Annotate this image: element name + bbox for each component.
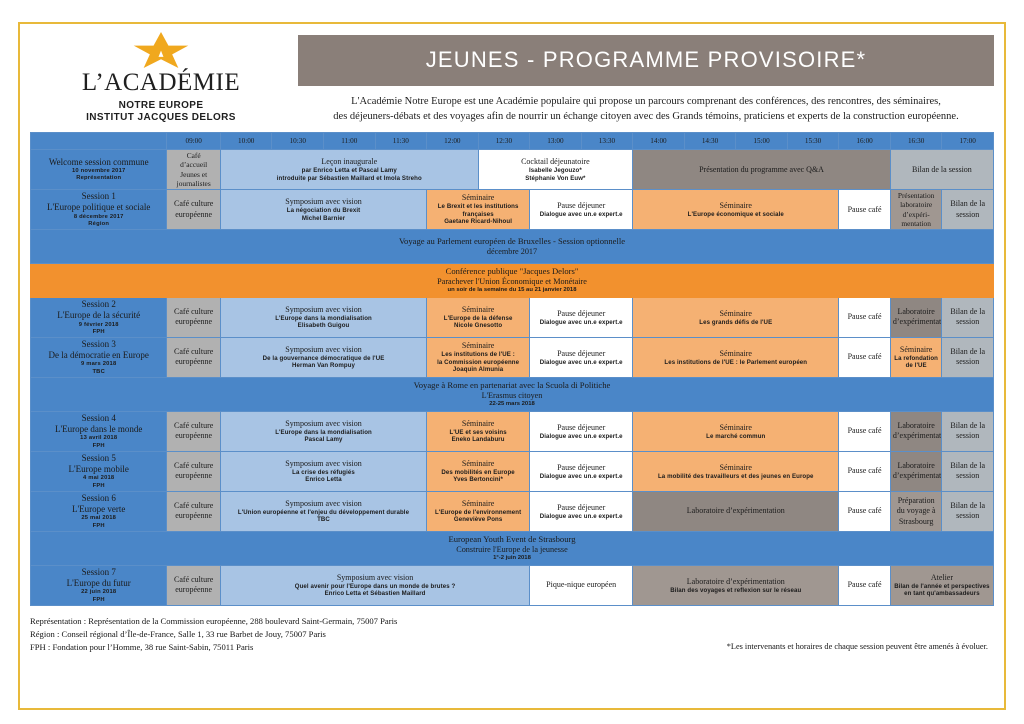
activity-title: Pause déjeuner [532, 201, 630, 211]
band-line-2: décembre 2017 [33, 247, 991, 257]
band-voyage-rome[interactable]: Voyage à Rome en partenariat avec la Scu… [31, 377, 994, 411]
activity-cell[interactable]: SéminaireLes institutions de l'UE : le P… [633, 337, 839, 377]
session-label-cell[interactable]: Session 4L'Europe dans le monde13 avril … [31, 411, 167, 451]
activity-line: Bilan de la [944, 501, 991, 511]
time-header-1000: 10:00 [220, 133, 272, 150]
band-voyage-bruxelles[interactable]: Voyage au Parlement européen de Bruxelle… [31, 230, 994, 264]
time-header-1230: 12:30 [478, 133, 530, 150]
schedule-row: Session 5L'Europe mobile4 mai 2018FPHCaf… [31, 451, 994, 491]
activity-cell[interactable]: SéminaireLe Brexit et les institutionsfr… [427, 190, 530, 230]
activity-line: session [944, 511, 991, 521]
activity-line: Laboratoire [893, 307, 940, 317]
activity-title: Présentation du programme avec Q&A [635, 165, 888, 175]
activity-cell[interactable]: Pause café [839, 411, 891, 451]
session-title-line2: De la démocratie en Europe [33, 350, 164, 361]
activity-cell[interactable]: Symposium avec visionLa crise des réfugi… [220, 451, 426, 491]
activity-title: Pause café [841, 506, 888, 516]
activity-cell[interactable]: Laboratoire d’expérimentation [633, 491, 839, 531]
time-header-1430: 14:30 [684, 133, 736, 150]
activity-cell[interactable]: Présentationlaboratoired’expéri-mentatio… [890, 190, 942, 230]
activity-detail: Le marché commun [635, 433, 836, 441]
band-european-youth-event-cell[interactable]: European Youth Event de StrasbourgConstr… [31, 531, 994, 565]
activity-title: Pause déjeuner [532, 463, 630, 473]
activity-cell[interactable]: Pause café [839, 491, 891, 531]
session-venue: Représentation [33, 175, 164, 182]
activity-title: Symposium avec vision [223, 197, 424, 207]
activity-detail: Enrico Letta et Sébastien Maillard [223, 590, 527, 598]
activity-line: Café culture [169, 307, 218, 317]
session-venue: FPH [33, 443, 164, 450]
activity-cell[interactable]: Pause café [839, 337, 891, 377]
session-date: 8 décembre 2017 [33, 214, 164, 221]
time-header-1700: 17:00 [942, 133, 994, 150]
activity-cell[interactable]: SéminaireLa mobilité des travailleurs et… [633, 451, 839, 491]
activity-cell[interactable]: Café cultureeuropéenne [167, 298, 221, 338]
activity-cell[interactable]: Symposium avec visionL'Europe dans la mo… [220, 298, 426, 338]
session-date: 10 novembre 2017 [33, 168, 164, 175]
activity-detail: L'Union européenne et l'enjeu du dévelop… [223, 509, 424, 517]
activity-cell[interactable]: Bilan de lasession [942, 491, 994, 531]
time-header-1530: 15:30 [787, 133, 839, 150]
activity-cell[interactable]: Bilan de lasession [942, 451, 994, 491]
activity-detail: Les grands défis de l'UE [635, 319, 836, 327]
time-header-1600: 16:00 [839, 133, 891, 150]
session-venue: FPH [33, 329, 164, 336]
activity-detail: Gaetane Ricard-Nihoul [429, 218, 527, 226]
session-label-cell[interactable]: Session 5L'Europe mobile4 mai 2018FPH [31, 451, 167, 491]
intro-line-1: L'Académie Notre Europe est une Académie… [304, 94, 988, 109]
session-title-line1: Session 5 [33, 453, 164, 464]
schedule-row: Session 6L'Europe verte25 mai 2018FPHCaf… [31, 491, 994, 531]
activity-cell[interactable]: Bilan de lasession [942, 411, 994, 451]
activity-line: Bilan de la [944, 199, 991, 209]
poster-header: L’ACADÉMIE NOTRE EUROPE INSTITUT JACQUES… [30, 30, 994, 128]
activity-line: laboratoire [893, 200, 940, 209]
activity-cell[interactable]: Pique-nique européen [530, 565, 633, 605]
poster-footer: Représentation : Représentation de la Co… [30, 615, 994, 655]
activity-line: d’expérimentation [893, 431, 940, 441]
activity-title: Séminaire [429, 419, 527, 429]
star-icon [30, 32, 292, 68]
activity-title: Séminaire [429, 305, 527, 315]
activity-detail: L'Europe dans la mondialisation [223, 429, 424, 437]
activity-title: Symposium avec vision [223, 459, 424, 469]
activity-title: Pause déjeuner [532, 423, 630, 433]
activity-title: Séminaire [429, 499, 527, 509]
activity-cell[interactable]: Pause déjeunerDialogue avec un.e expert.… [530, 451, 633, 491]
activity-title: Leçon inaugurale [223, 157, 476, 167]
session-label-cell[interactable]: Welcome session commune10 novembre 2017R… [31, 150, 167, 190]
activity-title: Séminaire [635, 423, 836, 433]
activity-detail: De la gouvernance démocratique de l'UE [223, 355, 424, 363]
band-line-1: Conférence publique "Jacques Delors" [33, 266, 991, 277]
activity-cell[interactable]: Pause déjeunerDialogue avec un.e expert.… [530, 337, 633, 377]
activity-detail: françaises [429, 211, 527, 219]
activity-cell[interactable]: Café cultureeuropéenne [167, 565, 221, 605]
activity-detail: Geneviève Pons [429, 516, 527, 524]
activity-title: Séminaire [429, 341, 527, 351]
activity-detail: Dialogue avec un.e expert.e [532, 211, 630, 219]
activity-detail: introduite par Sébastien Maillard et Imo… [223, 175, 476, 183]
activity-title: Pause café [841, 352, 888, 362]
activity-detail: La refondation de l'UE [893, 355, 940, 370]
activity-title: Laboratoire d’expérimentation [635, 577, 836, 587]
activity-line: journalistes [169, 179, 218, 188]
activity-detail: Stéphanie Von Euw* [481, 175, 631, 183]
schedule-row: Welcome session commune10 novembre 2017R… [31, 150, 994, 190]
activity-cell[interactable]: Pause déjeunerDialogue avec un.e expert.… [530, 411, 633, 451]
activity-detail: Les institutions de l'UE : le Parlement … [635, 359, 836, 367]
band-line-1: Voyage à Rome en partenariat avec la Scu… [33, 380, 991, 391]
activity-line: d’expérimentation [893, 317, 940, 327]
activity-cell[interactable]: SéminaireL'Europe économique et sociale [633, 190, 839, 230]
activity-line: Café culture [169, 347, 218, 357]
band-line-1: European Youth Event de Strasbourg [33, 534, 991, 545]
activity-title: Symposium avec vision [223, 573, 527, 583]
schedule-row: Session 1L'Europe politique et sociale8 … [31, 190, 994, 230]
intro-text: L'Académie Notre Europe est une Académie… [298, 86, 994, 124]
activity-cell[interactable]: SéminaireL'Europe de l'environnementGene… [427, 491, 530, 531]
activity-detail: La crise des réfugiés [223, 469, 424, 477]
activity-cell[interactable]: AtelierBilan de l'année et perspectivese… [890, 565, 993, 605]
activity-cell[interactable]: Café cultureeuropéenne [167, 190, 221, 230]
activity-title: Séminaire [635, 201, 836, 211]
activity-title: Symposium avec vision [223, 499, 424, 509]
programme-poster: L’ACADÉMIE NOTRE EUROPE INSTITUT JACQUES… [0, 0, 1024, 724]
activity-cell[interactable]: Cocktail déjeunatoireIsabelle Jegouzo*St… [478, 150, 633, 190]
activity-detail: Elisabeth Guigou [223, 322, 424, 330]
activity-line: session [944, 317, 991, 327]
session-date: 25 mai 2018 [33, 515, 164, 522]
grid-corner-cell [31, 133, 167, 150]
disclaimer-note: *Les intervenants et horaires de chaque … [727, 641, 994, 655]
activity-cell[interactable]: Laboratoire d’expérimentationBilan des v… [633, 565, 839, 605]
session-date: 9 mars 2018 [33, 361, 164, 368]
band-line-1: Voyage au Parlement européen de Bruxelle… [33, 236, 991, 247]
time-header-1300: 13:00 [530, 133, 582, 150]
activity-cell[interactable]: SéminaireLes grands défis de l'UE [633, 298, 839, 338]
activity-cell[interactable]: Leçon inauguralepar Enrico Letta et Pasc… [220, 150, 478, 190]
activity-title: Symposium avec vision [223, 419, 424, 429]
activity-cell[interactable]: SéminaireLa refondation de l'UE [890, 337, 942, 377]
session-venue: Région [33, 221, 164, 228]
time-header-1130: 11:30 [375, 133, 427, 150]
activity-detail: Les institutions de l'UE : [429, 351, 527, 359]
activity-title: Symposium avec vision [223, 305, 424, 315]
activity-detail: L'Europe de l'environnement [429, 509, 527, 517]
activity-cell[interactable]: Caféd’accueilJeunes etjournalistes [167, 150, 221, 190]
activity-cell[interactable]: Café cultureeuropéenne [167, 337, 221, 377]
time-header-1330: 13:30 [581, 133, 633, 150]
activity-line: mentation [893, 219, 940, 228]
activity-cell[interactable]: SéminaireL'Europe de la défenseNicole Gn… [427, 298, 530, 338]
band-line-3: 1°-2 juin 2018 [33, 555, 991, 562]
brand-name: L’ACADÉMIE [30, 69, 292, 97]
activity-title: Symposium avec vision [223, 345, 424, 355]
session-title-line1: Session 6 [33, 493, 164, 504]
activity-line: Café culture [169, 199, 218, 209]
activity-title: Bilan de la session [893, 165, 991, 175]
activity-detail: Michel Barnier [223, 215, 424, 223]
time-header-row: 09:0010:0010:3011:0011:3012:0012:3013:00… [31, 133, 994, 150]
activity-detail: Dialogue avec un.e expert.e [532, 473, 630, 481]
activity-detail: Enrico Letta [223, 476, 424, 484]
activity-detail: Herman Van Rompuy [223, 362, 424, 370]
activity-title: Pause déjeuner [532, 309, 630, 319]
activity-cell[interactable]: Préparation du voyage àStrasbourg [890, 491, 942, 531]
activity-line: d’accueil [169, 160, 218, 169]
activity-detail: Isabelle Jegouzo* [481, 167, 631, 175]
activity-title: Laboratoire d’expérimentation [635, 506, 836, 516]
time-header-1630: 16:30 [890, 133, 942, 150]
band-line-2: Construire l'Europe de la jeunesse [33, 545, 991, 555]
band-line-3: un soir de la semaine du 15 au 21 janvie… [33, 287, 991, 294]
activity-cell[interactable]: Laboratoired’expérimentation [890, 451, 942, 491]
activity-title: Pause café [841, 426, 888, 436]
time-header-0900: 09:00 [167, 133, 221, 150]
activity-cell[interactable]: Bilan de lasession [942, 190, 994, 230]
session-label-cell[interactable]: Session 6L'Europe verte25 mai 2018FPH [31, 491, 167, 531]
activity-line: Laboratoire [893, 461, 940, 471]
time-header-1100: 11:00 [324, 133, 376, 150]
activity-detail: Bilan des voyages et reflexion sur le ré… [635, 587, 836, 595]
activity-cell[interactable]: Laboratoired’expérimentation [890, 411, 942, 451]
session-title-line1: Welcome session commune [33, 157, 164, 168]
activity-cell[interactable]: SéminaireLes institutions de l'UE :la Co… [427, 337, 530, 377]
schedule-row: Session 2L'Europe de la sécurité9 févrie… [31, 298, 994, 338]
activity-cell[interactable]: Pause déjeunerDialogue avec un.e expert.… [530, 298, 633, 338]
activity-title: Séminaire [635, 349, 836, 359]
activity-line: européenne [169, 585, 218, 595]
activity-line: européenne [169, 357, 218, 367]
session-title-line2: L'Europe verte [33, 504, 164, 515]
session-label-cell[interactable]: Session 2L'Europe de la sécurité9 févrie… [31, 298, 167, 338]
session-date: 4 mai 2018 [33, 475, 164, 482]
activity-detail: La négociation du Brexit [223, 207, 424, 215]
session-date: 9 février 2018 [33, 322, 164, 329]
activity-title: Pause café [841, 580, 888, 590]
band-line-2: Parachever l'Union Économique et Monétai… [33, 277, 991, 287]
time-header-1500: 15:00 [736, 133, 788, 150]
band-conference-jacques-delors-cell[interactable]: Conférence publique "Jacques Delors"Para… [31, 264, 994, 298]
band-voyage-rome-cell[interactable]: Voyage à Rome en partenariat avec la Scu… [31, 377, 994, 411]
activity-cell[interactable]: Symposium avec visionLa négociation du B… [220, 190, 426, 230]
activity-line: européenne [169, 210, 218, 220]
band-line-3: 22-25 mars 2018 [33, 401, 991, 408]
activity-line: Strasbourg [893, 517, 940, 527]
session-title-line2: L'Europe de la sécurité [33, 310, 164, 321]
schedule-row: Session 3De la démocratie en Europe9 mar… [31, 337, 994, 377]
activity-title: Séminaire [429, 459, 527, 469]
activity-title: Séminaire [893, 345, 940, 355]
session-date: 13 avril 2018 [33, 435, 164, 442]
activity-cell[interactable]: Pause déjeunerDialogue avec un.e expert.… [530, 190, 633, 230]
activity-detail: Pascal Lamy [223, 436, 424, 444]
activity-title: Pique-nique européen [532, 580, 630, 590]
session-title-line2: L'Europe politique et sociale [33, 202, 164, 213]
activity-detail: La mobilité des travailleurs et des jeun… [635, 473, 836, 481]
activity-cell[interactable]: Symposium avec visionDe la gouvernance d… [220, 337, 426, 377]
activity-title: Pause café [841, 466, 888, 476]
activity-detail: Eneko Landaburu [429, 436, 527, 444]
activity-cell[interactable]: Pause café [839, 451, 891, 491]
activity-line: européenne [169, 317, 218, 327]
session-title-line1: Session 3 [33, 339, 164, 350]
activity-detail: Bilan de l'année et perspectives [893, 583, 991, 591]
session-venue: FPH [33, 597, 164, 604]
session-venue: FPH [33, 523, 164, 530]
activity-line: Bilan de la [944, 347, 991, 357]
session-title-line1: Session 4 [33, 413, 164, 424]
activity-detail: Le Brexit et les institutions [429, 203, 527, 211]
activity-detail: TBC [223, 516, 424, 524]
time-header-1030: 10:30 [272, 133, 324, 150]
activity-cell[interactable]: Café cultureeuropéenne [167, 491, 221, 531]
session-label-cell[interactable]: Session 7L'Europe du futur22 juin 2018FP… [31, 565, 167, 605]
time-header-1200: 12:00 [427, 133, 479, 150]
activity-detail: L'Europe économique et sociale [635, 211, 836, 219]
activity-title: Pause café [841, 205, 888, 215]
activity-line: européenne [169, 431, 218, 441]
activity-cell[interactable]: Café cultureeuropéenne [167, 411, 221, 451]
venue-fph: FPH : Fondation pour l’Homme, 38 rue Sai… [30, 641, 397, 654]
session-label-cell[interactable]: Session 3De la démocratie en Europe9 mar… [31, 337, 167, 377]
activity-line: Café culture [169, 421, 218, 431]
session-label-cell[interactable]: Session 1L'Europe politique et sociale8 … [31, 190, 167, 230]
activity-detail: L'UE et ses voisins [429, 429, 527, 437]
activity-title: Séminaire [635, 309, 836, 319]
band-line-2: L'Erasmus citoyen [33, 391, 991, 401]
session-title-line1: Session 1 [33, 191, 164, 202]
intro-line-2: des déjeuners-débats et des voyages afin… [304, 109, 988, 124]
activity-cell[interactable]: Symposium avec visionL'Union européenne … [220, 491, 426, 531]
activity-title: Séminaire [635, 463, 836, 473]
activity-detail: Dialogue avec un.e expert.e [532, 359, 630, 367]
activity-cell[interactable]: Bilan de la session [890, 150, 993, 190]
activity-cell[interactable]: Laboratoired’expérimentation [890, 298, 942, 338]
activity-line: Café [169, 151, 218, 160]
activity-line: d’expérimentation [893, 471, 940, 481]
brand-logo: L’ACADÉMIE NOTRE EUROPE INSTITUT JACQUES… [30, 30, 292, 123]
band-european-youth-event[interactable]: European Youth Event de StrasbourgConstr… [31, 531, 994, 565]
activity-line: Bilan de la [944, 461, 991, 471]
schedule-row: Session 7L'Europe du futur22 juin 2018FP… [31, 565, 994, 605]
session-date: 22 juin 2018 [33, 589, 164, 596]
activity-detail: en tant qu'ambassadeurs [893, 590, 991, 598]
activity-cell[interactable]: Bilan de lasession [942, 298, 994, 338]
session-title-line2: L'Europe du futur [33, 578, 164, 589]
activity-line: Café culture [169, 501, 218, 511]
brand-subtitle-2: INSTITUT JACQUES DELORS [30, 112, 292, 123]
activity-line: Bilan de la [944, 421, 991, 431]
activity-line: Présentation [893, 191, 940, 200]
activity-line: Laboratoire [893, 421, 940, 431]
band-voyage-bruxelles-cell[interactable]: Voyage au Parlement européen de Bruxelle… [31, 230, 994, 264]
activity-cell[interactable]: Symposium avec visionQuel avenir pour l'… [220, 565, 529, 605]
activity-detail: Dialogue avec un.e expert.e [532, 319, 630, 327]
activity-detail: Nicole Gnesotto [429, 322, 527, 330]
activity-detail: par Enrico Letta et Pascal Lamy [223, 167, 476, 175]
activity-detail: la Commission européenne [429, 359, 527, 367]
activity-line: européenne [169, 471, 218, 481]
schedule-row: Session 4L'Europe dans le monde13 avril … [31, 411, 994, 451]
activity-title: Pause café [841, 312, 888, 322]
activity-detail: Dialogue avec un.e expert.e [532, 513, 630, 521]
activity-detail: Joaquin Almunia [429, 366, 527, 374]
activity-cell[interactable]: SéminaireL'UE et ses voisinsEneko Landab… [427, 411, 530, 451]
activity-line: session [944, 357, 991, 367]
activity-cell[interactable]: Symposium avec visionL'Europe dans la mo… [220, 411, 426, 451]
activity-title: Cocktail déjeunatoire [481, 157, 631, 167]
activity-cell[interactable]: Pause café [839, 565, 891, 605]
activity-cell[interactable]: Pause café [839, 298, 891, 338]
session-venue: FPH [33, 483, 164, 490]
activity-detail: Dialogue avec un.e expert.e [532, 433, 630, 441]
activity-detail: L'Europe de la défense [429, 315, 527, 323]
activity-title: Séminaire [429, 193, 527, 203]
activity-cell[interactable]: Pause café [839, 190, 891, 230]
activity-line: Café culture [169, 461, 218, 471]
activity-cell[interactable]: Présentation du programme avec Q&A [633, 150, 891, 190]
venue-legend: Représentation : Représentation de la Co… [30, 615, 397, 655]
session-title-line1: Session 2 [33, 299, 164, 310]
activity-detail: L'Europe dans la mondialisation [223, 315, 424, 323]
activity-line: Préparation du voyage à [893, 496, 940, 517]
activity-cell[interactable]: Café cultureeuropéenne [167, 451, 221, 491]
brand-subtitle-1: NOTRE EUROPE [30, 100, 292, 111]
venue-region: Région : Conseil régional d’Île-de-Franc… [30, 628, 397, 641]
activity-cell[interactable]: Bilan de lasession [942, 337, 994, 377]
session-venue: TBC [33, 369, 164, 376]
page-title: JEUNES - PROGRAMME PROVISOIRE* [298, 35, 994, 86]
activity-line: Bilan de la [944, 307, 991, 317]
activity-title: Atelier [893, 573, 991, 583]
activity-line: session [944, 471, 991, 481]
activity-detail: Yves Bertoncini* [429, 476, 527, 484]
activity-line: session [944, 210, 991, 220]
session-title-line2: L'Europe dans le monde [33, 424, 164, 435]
activity-line: session [944, 431, 991, 441]
activity-line: Café culture [169, 575, 218, 585]
venue-representation: Représentation : Représentation de la Co… [30, 615, 397, 628]
activity-cell[interactable]: SéminaireDes mobilités en EuropeYves Ber… [427, 451, 530, 491]
programme-schedule-table: 09:0010:0010:3011:0011:3012:0012:3013:00… [30, 132, 994, 606]
activity-detail: Quel avenir pour l'Europe dans un monde … [223, 583, 527, 591]
band-conference-jacques-delors[interactable]: Conférence publique "Jacques Delors"Para… [31, 264, 994, 298]
time-header-1400: 14:00 [633, 133, 685, 150]
activity-cell[interactable]: Pause déjeunerDialogue avec un.e expert.… [530, 491, 633, 531]
activity-line: européenne [169, 511, 218, 521]
activity-line: d’expéri- [893, 210, 940, 219]
session-title-line2: L'Europe mobile [33, 464, 164, 475]
activity-line: Jeunes et [169, 170, 218, 179]
session-title-line1: Session 7 [33, 567, 164, 578]
activity-title: Pause déjeuner [532, 503, 630, 513]
activity-title: Pause déjeuner [532, 349, 630, 359]
activity-cell[interactable]: SéminaireLe marché commun [633, 411, 839, 451]
activity-detail: Des mobilités en Europe [429, 469, 527, 477]
